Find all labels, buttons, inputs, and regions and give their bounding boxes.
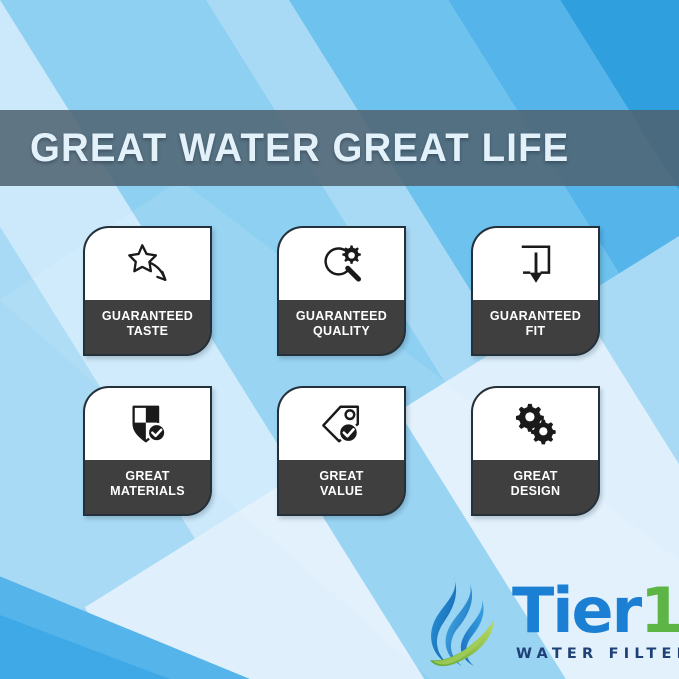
brand-wordmark: Tier1™ xyxy=(512,580,679,642)
card-label: GUARANTEED TASTE xyxy=(85,300,210,354)
card-icon-panel xyxy=(473,388,598,460)
card-label: GUARANTEED FIT xyxy=(473,300,598,354)
shield-check-icon xyxy=(125,401,171,447)
card-label-line1: GREAT xyxy=(125,469,169,484)
price-tag-check-icon xyxy=(319,401,365,447)
card-label-line1: GREAT xyxy=(319,469,363,484)
feature-card-great-design[interactable]: GREAT DESIGN xyxy=(471,386,600,516)
card-label-line1: GREAT xyxy=(513,469,557,484)
shooting-star-icon xyxy=(125,241,171,287)
card-icon-panel xyxy=(85,228,210,300)
card-icon-panel xyxy=(279,228,404,300)
water-drop-leaf-logo-icon xyxy=(424,574,506,670)
brand-tagline: WATER FILTERS xyxy=(516,646,679,662)
card-label-line2: TASTE xyxy=(127,324,169,339)
card-label-line2: DESIGN xyxy=(511,484,561,499)
card-label-line1: GUARANTEED xyxy=(490,309,581,324)
card-label-line2: VALUE xyxy=(320,484,363,499)
brand-name-one: 1 xyxy=(640,574,679,647)
feature-card-guaranteed-taste[interactable]: GUARANTEED TASTE xyxy=(83,226,212,356)
feature-card-guaranteed-fit[interactable]: GUARANTEED FIT xyxy=(471,226,600,356)
gear-detail xyxy=(342,245,361,264)
feature-card-great-value[interactable]: GREAT VALUE xyxy=(277,386,406,516)
card-label: GREAT DESIGN xyxy=(473,460,598,514)
headline-banner: GREAT WATER GREAT LIFE xyxy=(0,110,679,186)
brand-name-tier: Tier xyxy=(512,574,640,647)
card-label-line2: FIT xyxy=(526,324,546,339)
feature-card-guaranteed-quality[interactable]: GUARANTEED QUALITY xyxy=(277,226,406,356)
brand-logo: Tier1™ WATER FILTERS xyxy=(424,572,670,672)
page-title: GREAT WATER GREAT LIFE xyxy=(30,128,569,168)
magnifier-gear-icon xyxy=(319,241,365,287)
card-label: GREAT VALUE xyxy=(279,460,404,514)
feature-card-grid: GUARANTEED TASTE GUARANTEE xyxy=(0,226,679,516)
card-label-line1: GUARANTEED xyxy=(102,309,193,324)
arrow-into-box-icon xyxy=(513,241,559,287)
card-icon-panel xyxy=(279,388,404,460)
card-icon-panel xyxy=(473,228,598,300)
card-label-line1: GUARANTEED xyxy=(296,309,387,324)
card-icon-panel xyxy=(85,388,210,460)
gears-icon xyxy=(513,401,559,447)
card-label: GUARANTEED QUALITY xyxy=(279,300,404,354)
poster-canvas: GREAT WATER GREAT LIFE GUARANTEED TASTE xyxy=(0,0,679,679)
card-label-line2: MATERIALS xyxy=(110,484,185,499)
feature-card-great-materials[interactable]: GREAT MATERIALS xyxy=(83,386,212,516)
card-label-line2: QUALITY xyxy=(313,324,370,339)
card-label: GREAT MATERIALS xyxy=(85,460,210,514)
